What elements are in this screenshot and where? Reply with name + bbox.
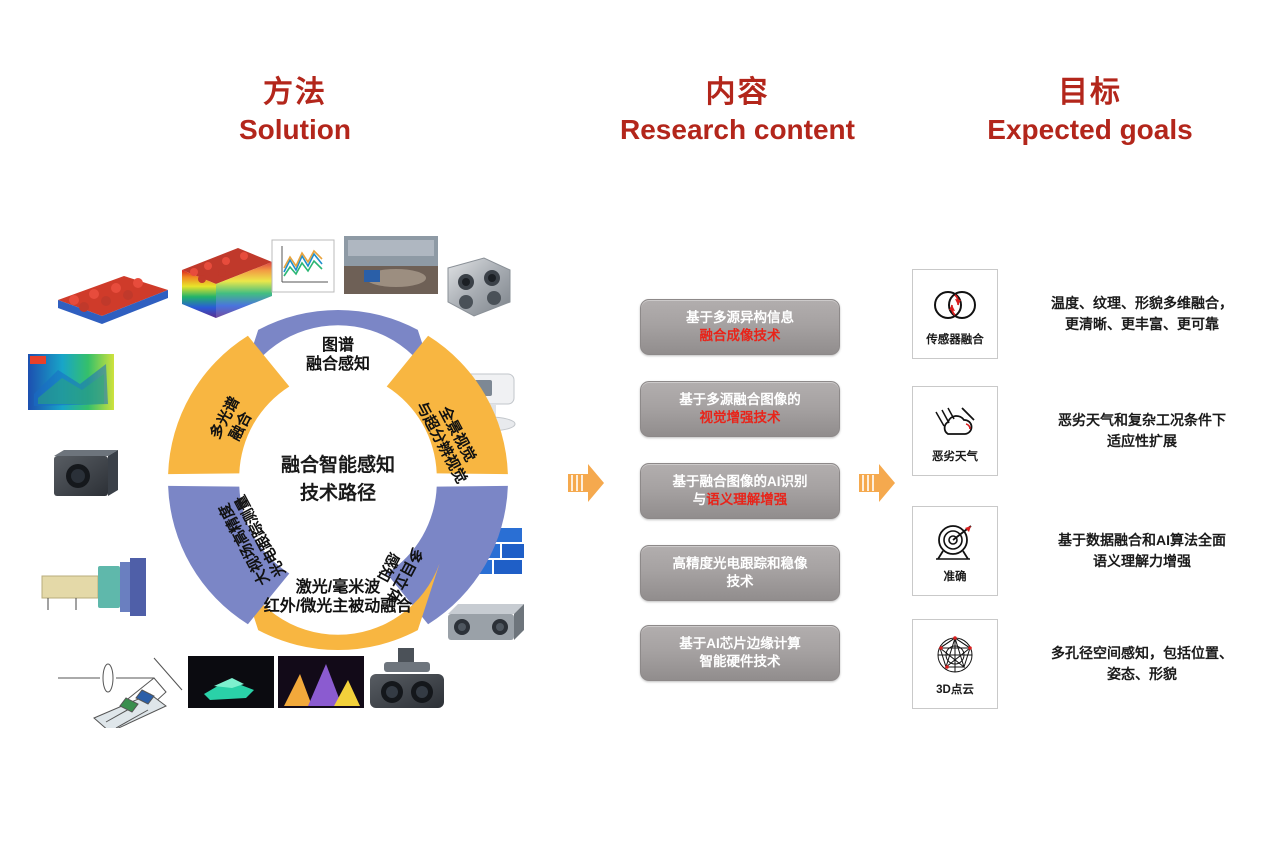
- column-header-goals-en: Expected goals: [945, 112, 1235, 147]
- expected-goal-text-2: 恶劣天气和复杂工况条件下 适应性扩展: [1022, 410, 1262, 452]
- thumb-ir-scene-2: [278, 656, 364, 708]
- solution-diagram: 图谱 融合感知 图谱融合感知 全景视觉 与超分辨视觉 全景视觉与超分辨视觉 多目…: [28, 228, 524, 728]
- research-content-box-5-line2: 智能硬件技术: [700, 653, 781, 671]
- point-cloud-icon: [933, 631, 977, 679]
- research-content-box-3-line2-prefix: 与: [693, 492, 707, 507]
- expected-goal-text-2-line2: 适应性扩展: [1022, 431, 1262, 452]
- expected-goal-text-2-line1: 恶劣天气和复杂工况条件下: [1022, 410, 1262, 431]
- column-header-solution-en: Solution: [170, 112, 420, 147]
- goal-icon-box-accuracy: 准确: [912, 506, 998, 596]
- donut-label-jiguang: 激光/毫米波 红外/微光主被动融合 激光/毫米波红外/微光主被动融合: [218, 578, 458, 616]
- thumb-ir-scene-1: [188, 656, 274, 708]
- research-content-box-4-line2: 技术: [727, 573, 754, 591]
- research-content-box-4-line1: 高精度光电跟踪和稳像: [673, 555, 808, 573]
- arrow-solution-to-content: [566, 460, 606, 506]
- goal-icon-caption-4: 3D点云: [936, 681, 974, 697]
- target-accuracy-icon: [932, 518, 978, 566]
- expected-goal-text-4: 多孔径空间感知，包括位置、 姿态、形貌: [1022, 643, 1262, 685]
- expected-goal-text-3-line1: 基于数据融合和AI算法全面: [1022, 530, 1262, 551]
- research-content-box-3-line1: 基于融合图像的AI识别: [673, 473, 808, 491]
- column-header-goals: 目标 Expected goals: [945, 74, 1235, 147]
- expected-goal-row-1: 传感器融合 温度、纹理、形貌多维融合， 更清晰、更丰富、更可靠: [912, 268, 1262, 360]
- expected-goal-text-1-line1: 温度、纹理、形貌多维融合，: [1022, 293, 1262, 314]
- goal-icon-box-bad-weather: 恶劣天气: [912, 386, 998, 476]
- column-header-content: 内容 Research content: [600, 74, 875, 147]
- research-content-box-1[interactable]: 基于多源异构信息 融合成像技术: [640, 299, 840, 355]
- research-content-box-1-line2: 融合成像技术: [700, 327, 781, 345]
- expected-goal-text-4-line2: 姿态、形貌: [1022, 664, 1262, 685]
- expected-goal-text-3: 基于数据融合和AI算法全面 语义理解力增强: [1022, 530, 1262, 572]
- expected-goal-row-3: 准确 基于数据融合和AI算法全面 语义理解力增强: [912, 505, 1262, 597]
- arrow-content-to-goals: [857, 460, 897, 506]
- goal-icon-caption-1: 传感器融合: [926, 331, 984, 347]
- expected-goal-row-4: 3D点云 多孔径空间感知，包括位置、 姿态、形貌: [912, 618, 1262, 710]
- thumb-spectral-plate: [58, 276, 168, 324]
- expected-goal-text-1-line2: 更清晰、更丰富、更可靠: [1022, 314, 1262, 335]
- research-content-box-1-line1: 基于多源异构信息: [686, 309, 794, 327]
- goal-icon-caption-3: 准确: [944, 568, 967, 584]
- thumb-camera-module: [54, 450, 118, 496]
- research-content-box-5[interactable]: 基于AI芯片边缘计算 智能硬件技术: [640, 625, 840, 681]
- goal-icon-caption-2: 恶劣天气: [932, 448, 978, 464]
- expected-goal-text-3-line2: 语义理解力增强: [1022, 551, 1262, 572]
- venn-fusion-icon: [929, 281, 981, 329]
- donut-label-tupu: 图谱 融合感知 图谱融合感知: [278, 336, 398, 374]
- thumb-industrial-photo: [344, 236, 438, 294]
- research-content-box-3-line2-highlight: 语义理解增强: [706, 492, 787, 507]
- research-content-box-2[interactable]: 基于多源融合图像的 视觉增强技术: [640, 381, 840, 437]
- thumb-thermal-map: [28, 354, 114, 410]
- column-header-content-zh: 内容: [600, 74, 875, 112]
- goal-icon-box-sensor-fusion: 传感器融合: [912, 269, 998, 359]
- research-content-box-2-line2: 视觉增强技术: [700, 409, 781, 427]
- technology-path-donut: 图谱 融合感知 图谱融合感知 全景视觉 与超分辨视觉 全景视觉与超分辨视觉 多目…: [158, 300, 518, 660]
- column-header-goals-zh: 目标: [945, 74, 1235, 112]
- thumb-optics-schematic: [58, 658, 182, 728]
- thumb-spectral-plot: [272, 240, 334, 292]
- expected-goal-text-1: 温度、纹理、形貌多维融合， 更清晰、更丰富、更可靠: [1022, 293, 1262, 335]
- expected-goal-text-4-line1: 多孔径空间感知，包括位置、: [1022, 643, 1262, 664]
- column-header-solution: 方法 Solution: [170, 74, 420, 147]
- research-content-box-3[interactable]: 基于融合图像的AI识别 与语义理解增强: [640, 463, 840, 519]
- research-content-box-5-line1: 基于AI芯片边缘计算: [679, 635, 801, 653]
- research-content-box-2-line1: 基于多源融合图像的: [679, 391, 801, 409]
- expected-goal-row-2: 恶劣天气 恶劣天气和复杂工况条件下 适应性扩展: [912, 385, 1262, 477]
- bad-weather-icon: [932, 398, 978, 446]
- column-header-solution-zh: 方法: [170, 74, 420, 112]
- column-header-content-en: Research content: [600, 112, 875, 147]
- goal-icon-box-point-cloud: 3D点云: [912, 619, 998, 709]
- research-content-box-4[interactable]: 高精度光电跟踪和稳像 技术: [640, 545, 840, 601]
- research-content-box-3-line2: 与语义理解增强: [693, 491, 788, 509]
- thumb-optical-bench: [42, 558, 146, 616]
